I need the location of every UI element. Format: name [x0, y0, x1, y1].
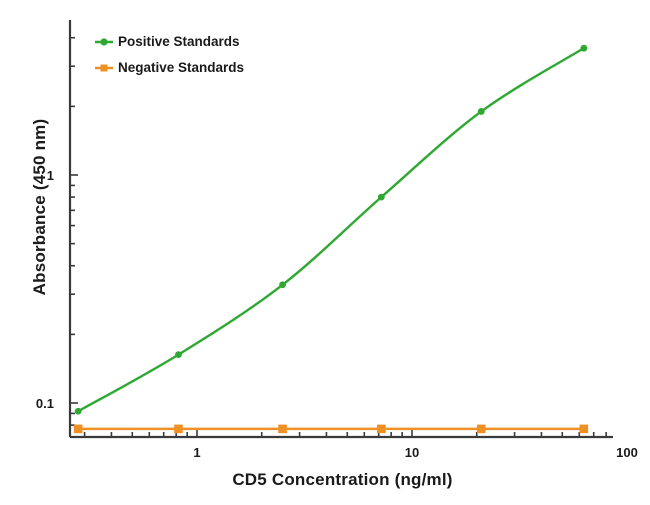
legend-label-negative-standards: Negative Standards: [118, 60, 244, 75]
data-point: [279, 281, 286, 288]
x-axis-title: CD5 Concentration (ng/ml): [70, 470, 615, 490]
data-point: [378, 425, 386, 433]
data-point: [279, 425, 287, 433]
absorbance-standard-curve-chart: [0, 0, 650, 505]
data-series-layer: [74, 45, 587, 433]
axis-lines: [70, 20, 613, 437]
series-positive-standards: [75, 45, 588, 415]
data-point: [175, 425, 183, 433]
chart-root: Positive Standards Negative Standards Ab…: [0, 0, 650, 505]
series-negative-standards: [74, 425, 587, 433]
y-axis-ticks: [70, 38, 78, 425]
data-point: [477, 425, 485, 433]
x-tick-label-1: 1: [177, 445, 217, 460]
data-point: [378, 194, 385, 201]
x-axis-ticks: [85, 429, 607, 437]
data-point: [74, 425, 82, 433]
x-tick-label-10: 10: [392, 445, 432, 460]
data-point: [75, 408, 82, 415]
y-tick-label-0-1: 0.1: [18, 396, 54, 411]
data-point: [478, 108, 485, 115]
data-point: [175, 351, 182, 358]
data-point: [580, 45, 587, 52]
legend-label-positive-standards: Positive Standards: [118, 34, 240, 49]
y-axis-title: Absorbance (450 nm): [30, 87, 50, 327]
legend-markers: [95, 38, 113, 71]
x-tick-label-100: 100: [607, 445, 647, 460]
data-point: [580, 425, 588, 433]
y-tick-label-1: 1: [18, 168, 54, 183]
